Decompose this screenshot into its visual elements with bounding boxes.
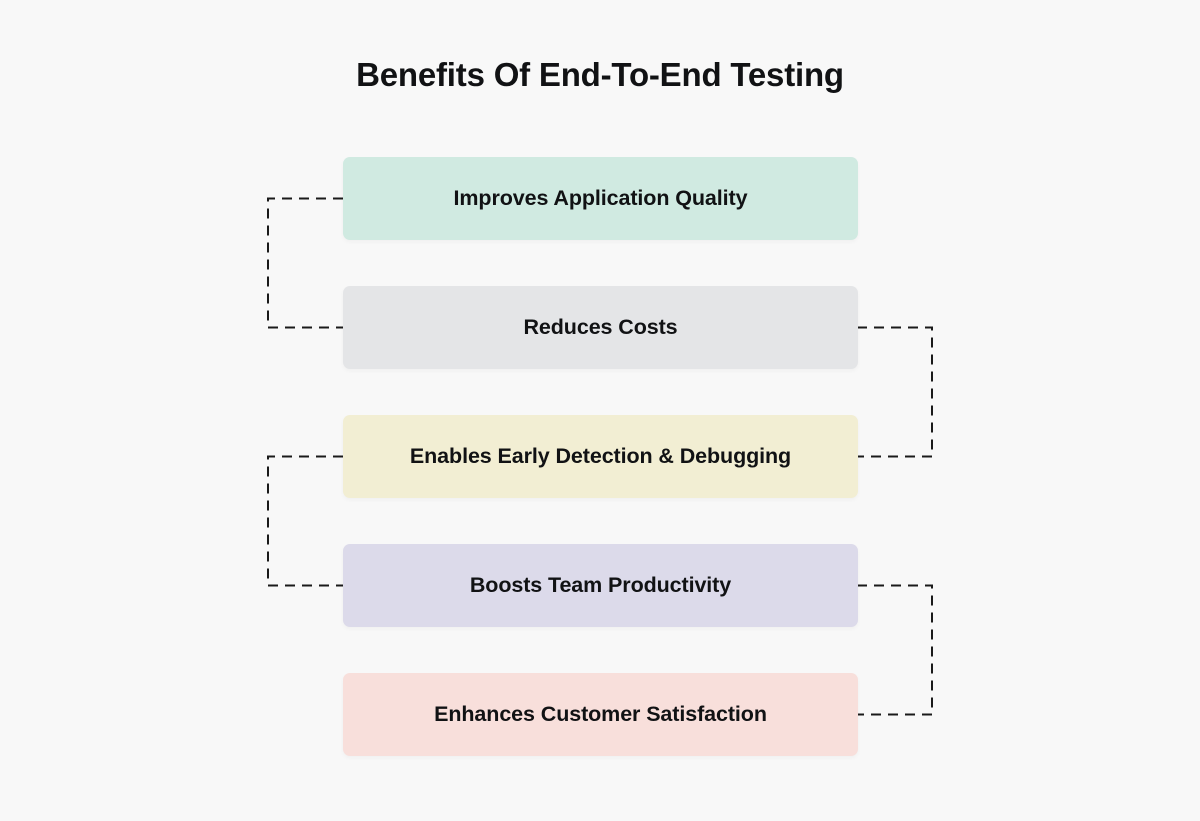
benefit-box-1[interactable]: Improves Application Quality [343,157,858,240]
connector-box1-box2 [268,199,343,328]
connector-box4-box5 [857,586,932,715]
connector-box2-box3 [857,328,932,457]
benefit-label-3: Enables Early Detection & Debugging [396,444,805,470]
benefit-box-3[interactable]: Enables Early Detection & Debugging [343,415,858,498]
benefit-label-2: Reduces Costs [509,315,691,341]
benefit-label-1: Improves Application Quality [440,186,762,212]
benefit-label-4: Boosts Team Productivity [456,573,745,599]
benefit-box-2[interactable]: Reduces Costs [343,286,858,369]
benefit-label-5: Enhances Customer Satisfaction [420,702,781,728]
page-title: Benefits Of End-To-End Testing [0,56,1200,94]
connector-box3-box4 [268,457,343,586]
benefit-box-4[interactable]: Boosts Team Productivity [343,544,858,627]
infographic-canvas: Benefits Of End-To-End Testing Improves … [0,0,1200,821]
benefit-box-5[interactable]: Enhances Customer Satisfaction [343,673,858,756]
